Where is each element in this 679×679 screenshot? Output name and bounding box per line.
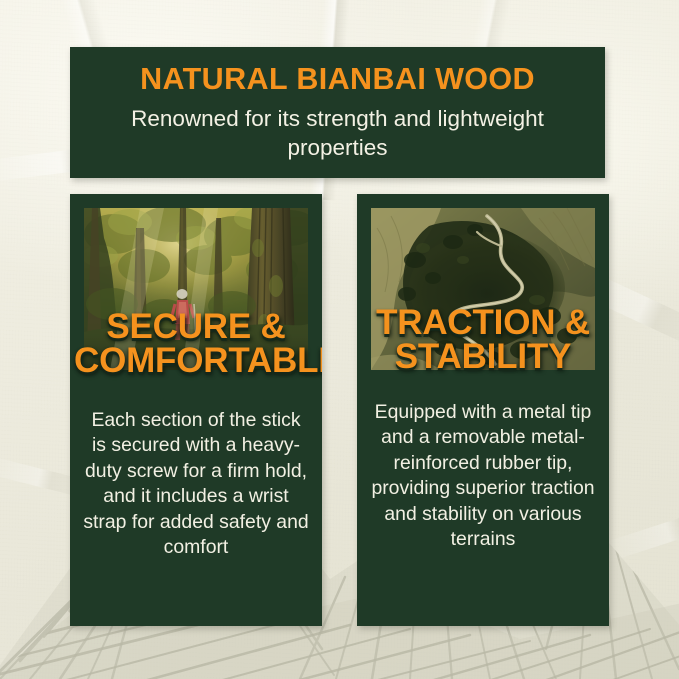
- feature-cards-row: SECURE & COMFORTABLE Each section of the…: [70, 194, 609, 626]
- card-headline: SECURE & COMFORTABLE: [70, 310, 322, 377]
- card-body-text: Equipped with a metal tip and a removabl…: [370, 400, 596, 553]
- header-banner: NATURAL BIANBAI WOOD Renowned for its st…: [70, 47, 605, 178]
- page-title: NATURAL BIANBAI WOOD: [140, 63, 535, 95]
- feature-card-traction-stability: TRACTION & STABILITY Equipped with a met…: [357, 194, 609, 626]
- product-feature-infographic: NATURAL BIANBAI WOOD Renowned for its st…: [0, 0, 679, 679]
- page-subtitle: Renowned for its strength and lightweigh…: [103, 104, 573, 163]
- feature-card-secure-comfortable: SECURE & COMFORTABLE Each section of the…: [70, 194, 322, 626]
- card-body-text: Each section of the stick is secured wit…: [83, 408, 309, 561]
- card-headline: TRACTION & STABILITY: [357, 306, 609, 373]
